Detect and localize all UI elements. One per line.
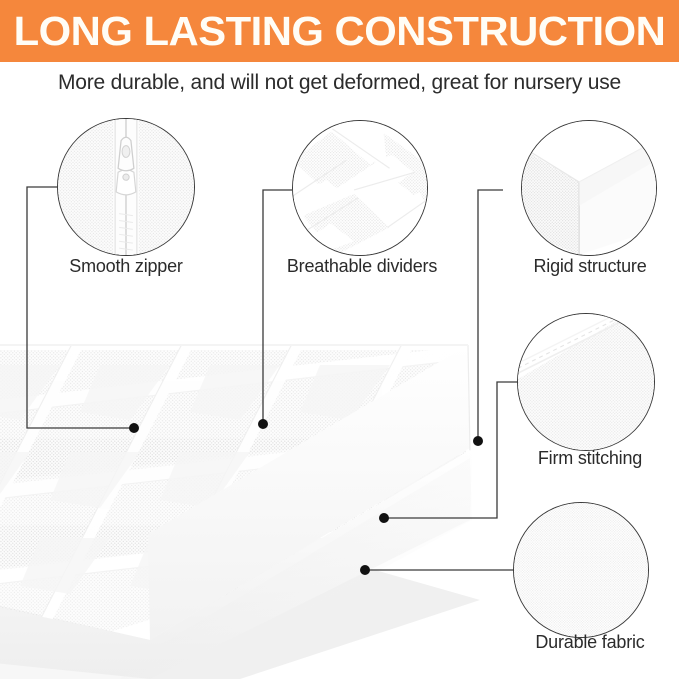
callout-image-smooth-zipper <box>57 118 195 256</box>
callout-image-rigid-structure <box>521 120 657 256</box>
stitching-detail-icon <box>518 314 654 450</box>
callout-image-breathable-dividers <box>292 120 428 256</box>
infographic-page: LONG LASTING CONSTRUCTION More durable, … <box>0 0 679 679</box>
callout-image-firm-stitching <box>517 313 655 451</box>
callout-label-firm-stitching: Firm stitching <box>500 448 679 469</box>
callout-label-smooth-zipper: Smooth zipper <box>26 256 226 277</box>
header-banner: LONG LASTING CONSTRUCTION <box>0 0 679 62</box>
callout-label-durable-fabric: Durable fabric <box>500 632 679 653</box>
zipper-detail-icon <box>58 119 194 255</box>
fabric-detail-icon <box>514 503 648 637</box>
callout-label-breathable-dividers: Breathable dividers <box>257 256 467 277</box>
page-title: LONG LASTING CONSTRUCTION <box>14 11 666 52</box>
callout-label-rigid-structure: Rigid structure <box>500 256 679 277</box>
corner-detail-icon <box>522 121 656 255</box>
callout-image-durable-fabric <box>513 502 649 638</box>
dividers-detail-icon <box>293 121 427 255</box>
page-subtitle: More durable, and will not get deformed,… <box>0 66 679 100</box>
